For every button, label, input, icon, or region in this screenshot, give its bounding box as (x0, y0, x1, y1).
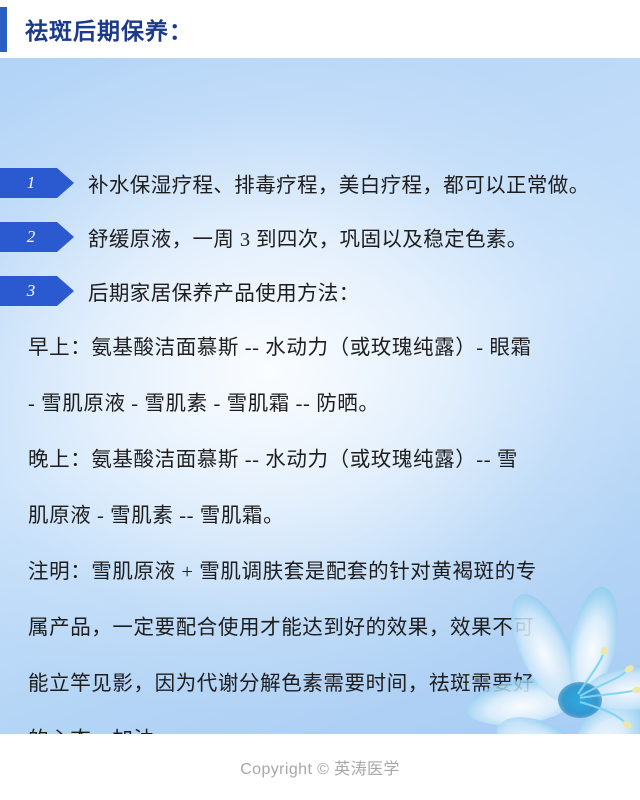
header-accent-bar (0, 7, 7, 52)
step-number: 3 (27, 281, 36, 301)
list-item: 3 后期家居保养产品使用方法： (0, 276, 640, 306)
body-line-3: 晚上：氨基酸洁面慕斯 -- 水动力（或玫瑰纯露）-- 雪 (28, 432, 624, 488)
step-badge-3: 3 (0, 276, 74, 306)
body-line-8: 的心态，加油 (28, 712, 624, 734)
list-item: 1 补水保湿疗程、排毒疗程，美白疗程，都可以正常做。 (0, 168, 640, 198)
body-line-7: 能立竿见影，因为代谢分解色素需要时间，祛斑需要好 (28, 656, 624, 712)
list-item: 2 舒缓原液，一周 3 到四次，巩固以及稳定色素。 (0, 222, 640, 252)
step-badge-2: 2 (0, 222, 74, 252)
step-text-1: 补水保湿疗程、排毒疗程，美白疗程，都可以正常做。 (88, 168, 590, 198)
copyright-text: Copyright © 英涛医学 (240, 755, 400, 779)
body-text-block: 早上：氨基酸洁面慕斯 -- 水动力（或玫瑰纯露）- 眼霜 - 雪肌原液 - 雪肌… (28, 320, 624, 734)
step-number: 2 (27, 227, 36, 247)
body-line-1: 早上：氨基酸洁面慕斯 -- 水动力（或玫瑰纯露）- 眼霜 (28, 320, 624, 376)
content-panel: 1 补水保湿疗程、排毒疗程，美白疗程，都可以正常做。 2 舒缓原液，一周 3 到… (0, 58, 640, 734)
body-line-2: - 雪肌原液 - 雪肌素 - 雪肌霜 -- 防晒。 (28, 376, 624, 432)
page-title: 祛斑后期保养： (25, 12, 193, 46)
body-line-4: 肌原液 - 雪肌素 -- 雪肌霜。 (28, 488, 624, 544)
body-line-5: 注明：雪肌原液 + 雪肌调肤套是配套的针对黄褐斑的专 (28, 544, 624, 600)
step-badge-1: 1 (0, 168, 74, 198)
step-number: 1 (27, 173, 36, 193)
page-header: 祛斑后期保养： (0, 0, 640, 58)
step-text-3: 后期家居保养产品使用方法： (88, 276, 360, 306)
body-line-6: 属产品，一定要配合使用才能达到好的效果，效果不可 (28, 600, 624, 656)
page-footer: Copyright © 英涛医学 (0, 734, 640, 800)
step-text-2: 舒缓原液，一周 3 到四次，巩固以及稳定色素。 (88, 222, 528, 252)
